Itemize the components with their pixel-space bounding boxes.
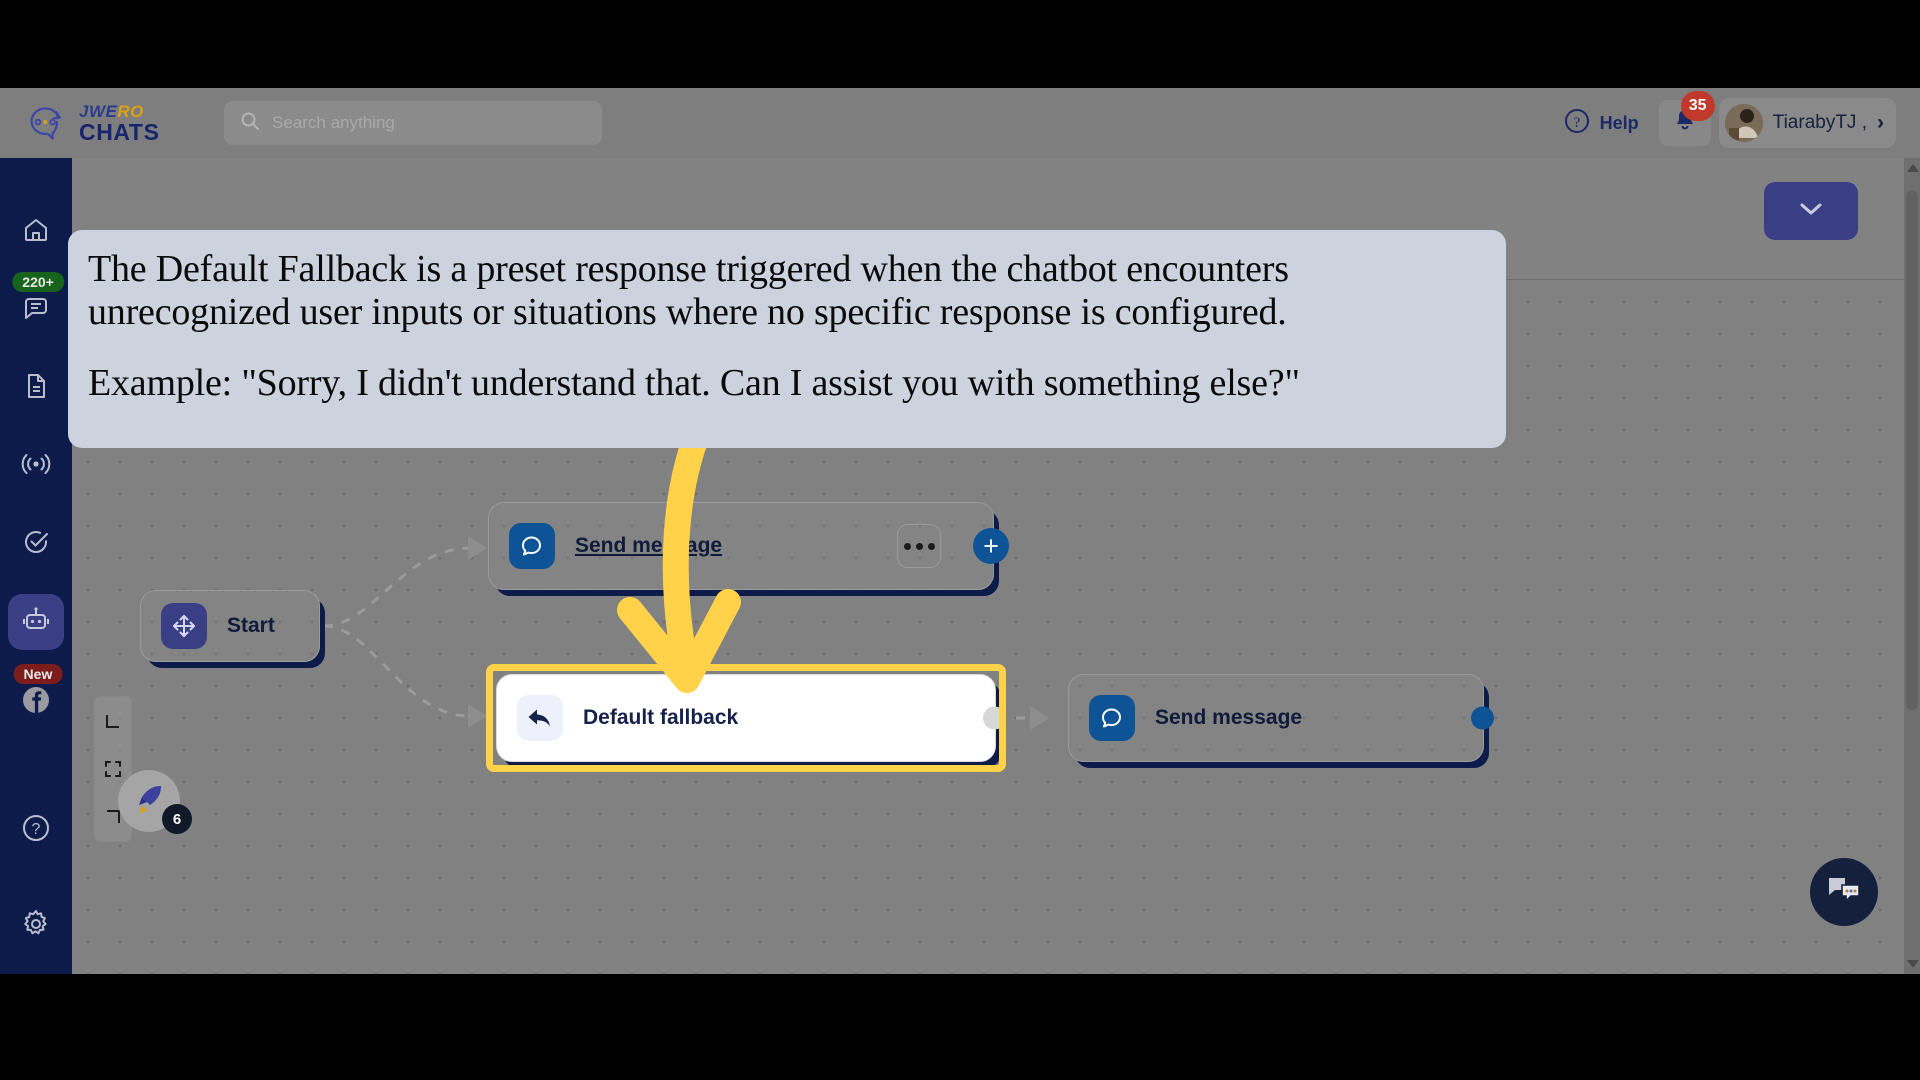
notification-badge: 35	[1681, 91, 1715, 121]
flow-action-button[interactable]	[1764, 182, 1858, 240]
node-output-port[interactable]	[1471, 707, 1494, 730]
sidebar-item-broadcast[interactable]	[8, 438, 64, 494]
top-bar: JWERO CHATS Search anything ? H	[0, 88, 1920, 158]
scroll-down-arrow-icon[interactable]	[1907, 960, 1919, 968]
sidebar-item-help[interactable]: ?	[8, 802, 64, 858]
node-menu-button[interactable]	[897, 524, 941, 568]
header-actions: ? Help 35	[1552, 98, 1896, 148]
flow-node-send-message-2[interactable]: Send message	[1068, 674, 1484, 762]
help-button[interactable]: ? Help	[1552, 101, 1651, 146]
overlay-paragraph-1: The Default Fallback is a preset respons…	[88, 248, 1486, 334]
question-circle-icon: ?	[1564, 108, 1590, 139]
help-label: Help	[1600, 113, 1639, 134]
flow-node-label[interactable]: Send message	[575, 534, 722, 558]
svg-text:?: ?	[32, 821, 41, 838]
notifications-button[interactable]: 35	[1659, 100, 1711, 146]
node-add-button[interactable]: +	[973, 528, 1009, 564]
search-input[interactable]: Search anything	[224, 101, 602, 145]
flow-node-label: Send message	[1155, 706, 1302, 730]
user-name: TiarabyTJ ,	[1773, 112, 1867, 134]
flow-node-start[interactable]: Start	[140, 590, 320, 662]
flow-node-label: Default fallback	[583, 706, 738, 730]
logo-text-chats: CHATS	[79, 119, 160, 145]
screen: JWERO CHATS Search anything ? H	[0, 0, 1920, 1080]
logo-wordmark: JWERO CHATS	[79, 103, 160, 144]
document-icon	[22, 372, 50, 405]
scrollbar-thumb[interactable]	[1906, 190, 1918, 710]
sidebar-item-facebook[interactable]: New	[8, 674, 64, 730]
svg-text:?: ?	[1573, 115, 1580, 131]
chat-icon	[22, 294, 50, 327]
chat-bubble-icon	[1089, 695, 1135, 741]
chevron-right-icon: ›	[1877, 111, 1884, 135]
chat-bubbles-icon	[1825, 873, 1863, 912]
flow-node-default-fallback[interactable]: Default fallback	[496, 674, 996, 762]
sidebar-item-tasks[interactable]	[8, 516, 64, 572]
search-placeholder: Search anything	[272, 113, 395, 133]
app-window: JWERO CHATS Search anything ? H	[0, 88, 1920, 974]
reply-arrow-icon	[517, 695, 563, 741]
zoom-fit-button[interactable]	[95, 697, 131, 745]
ellipsis-icon	[928, 543, 935, 550]
sidebar-item-home[interactable]	[8, 204, 64, 260]
sidebar-badge-chats: 220+	[12, 272, 64, 292]
sidebar-item-settings[interactable]	[8, 898, 64, 954]
sidebar-item-chats[interactable]: 220+	[8, 282, 64, 338]
chat-bubble-icon	[509, 523, 555, 569]
check-circle-icon	[22, 528, 50, 561]
avatar	[1725, 104, 1763, 142]
user-menu[interactable]: TiarabyTJ , ›	[1719, 98, 1896, 148]
jwero-logo-icon	[26, 103, 70, 143]
search-icon	[240, 111, 260, 136]
broadcast-icon	[21, 451, 51, 482]
sidebar-bottom: ?	[8, 788, 64, 974]
home-icon	[22, 216, 50, 249]
move-arrows-icon	[161, 603, 207, 649]
rocket-badge-count: 6	[162, 804, 192, 834]
node-output-port[interactable]	[983, 707, 1006, 730]
flow-node-label: Start	[227, 614, 275, 638]
facebook-icon	[21, 685, 51, 720]
ellipsis-icon	[904, 543, 911, 550]
sidebar-badge-facebook: New	[14, 664, 63, 684]
chat-widget-button[interactable]	[1810, 858, 1878, 926]
canvas-scrollbar[interactable]	[1904, 158, 1920, 974]
explanation-overlay: The Default Fallback is a preset respons…	[68, 230, 1506, 448]
ellipsis-icon	[916, 543, 923, 550]
sidebar-item-documents[interactable]	[8, 360, 64, 416]
gear-icon	[21, 909, 51, 944]
sidebar-item-chatbot[interactable]	[8, 594, 64, 650]
sidebar: 220+	[0, 158, 72, 974]
chevron-down-icon	[1798, 200, 1824, 223]
robot-icon	[20, 606, 52, 639]
scroll-up-arrow-icon[interactable]	[1907, 164, 1919, 172]
overlay-paragraph-2: Example: "Sorry, I didn't understand tha…	[88, 362, 1486, 405]
flow-node-send-message-1[interactable]: Send message +	[488, 502, 994, 590]
app-logo[interactable]: JWERO CHATS	[26, 103, 186, 144]
app-viewport: JWERO CHATS Search anything ? H	[0, 88, 1920, 974]
question-circle-icon: ?	[21, 813, 51, 848]
